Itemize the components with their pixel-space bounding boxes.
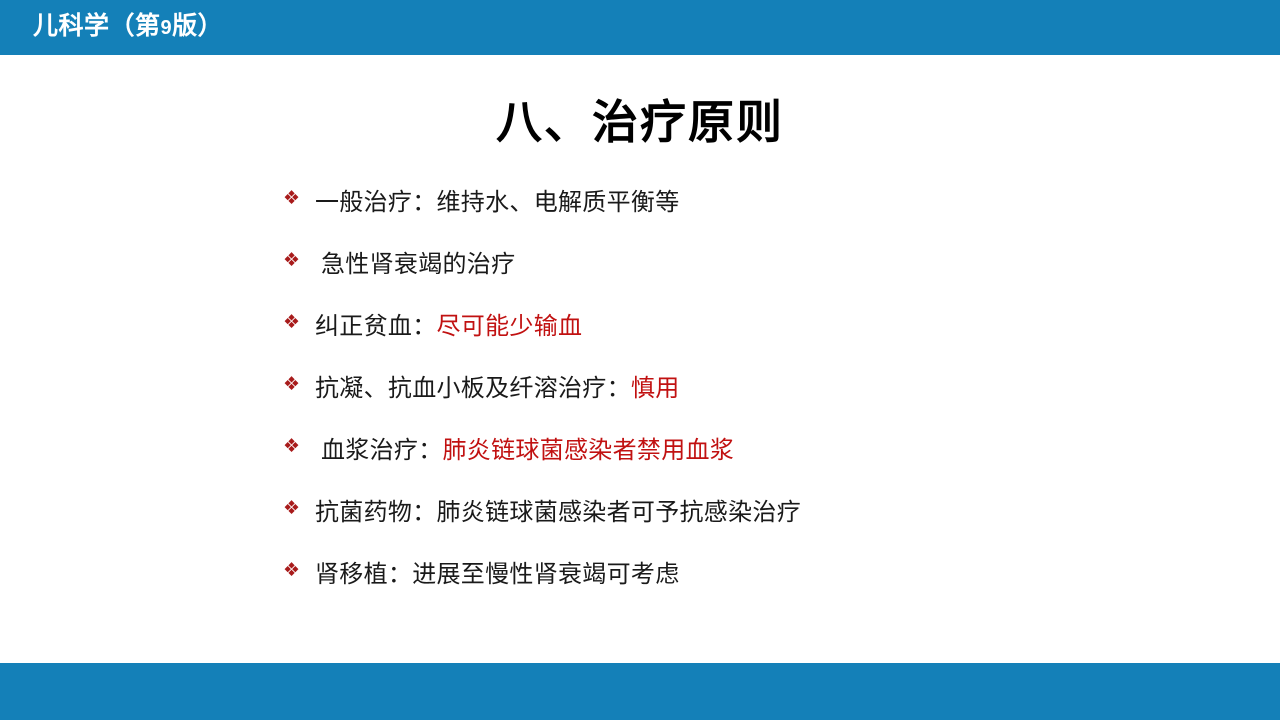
list-item-text-highlight: 尽可能少输血	[437, 313, 583, 340]
list-item-text: 抗凝、抗血小板及纤溶治疗：慎用	[303, 368, 680, 403]
list-item: ❖ 纠正贫血：尽可能少输血	[283, 292, 1233, 354]
bullet-list: ❖ 一般治疗：维持水、电解质平衡等 ❖ 急性肾衰竭的治疗 ❖ 纠正贫血：尽可能少…	[283, 168, 1233, 602]
footer-bar	[0, 663, 1280, 720]
diamond-bullet-icon: ❖	[283, 499, 303, 518]
diamond-bullet-icon: ❖	[283, 375, 303, 394]
diamond-bullet-icon: ❖	[283, 251, 303, 270]
header-title-tail: 版）	[172, 12, 223, 40]
page-title: 八、治疗原则	[0, 86, 1280, 152]
header-edition-number: 9	[161, 17, 173, 39]
header-title-main: 儿科学（第	[33, 12, 161, 40]
slide: 儿科学（第9版） 八、治疗原则 ❖ 一般治疗：维持水、电解质平衡等 ❖ 急性肾衰…	[0, 0, 1280, 720]
list-item: ❖ 肾移植：进展至慢性肾衰竭可考虑	[283, 540, 1233, 602]
list-item-text: 血浆治疗：肺炎链球菌感染者禁用血浆	[303, 430, 734, 465]
diamond-bullet-icon: ❖	[283, 437, 303, 456]
list-item: ❖ 急性肾衰竭的治疗	[283, 230, 1233, 292]
header-bar: 儿科学（第9版）	[0, 0, 1280, 55]
list-item-text-black: 一般治疗：维持水、电解质平衡等	[315, 189, 680, 216]
diamond-bullet-icon: ❖	[283, 189, 303, 208]
list-item: ❖ 血浆治疗：肺炎链球菌感染者禁用血浆	[283, 416, 1233, 478]
list-item-text: 抗菌药物：肺炎链球菌感染者可予抗感染治疗	[303, 492, 801, 527]
list-item-text-highlight: 肺炎链球菌感染者禁用血浆	[443, 437, 735, 464]
list-item-text: 肾移植：进展至慢性肾衰竭可考虑	[303, 554, 680, 589]
list-item-text-black: 抗菌药物：肺炎链球菌感染者可予抗感染治疗	[315, 499, 801, 526]
list-item: ❖ 抗菌药物：肺炎链球菌感染者可予抗感染治疗	[283, 478, 1233, 540]
list-item: ❖ 抗凝、抗血小板及纤溶治疗：慎用	[283, 354, 1233, 416]
list-item-text-black: 血浆治疗：	[321, 437, 443, 464]
list-item-text-black: 急性肾衰竭的治疗	[321, 251, 515, 278]
list-item-text-black: 纠正贫血：	[315, 313, 437, 340]
diamond-bullet-icon: ❖	[283, 313, 303, 332]
list-item-text-highlight: 慎用	[631, 375, 680, 402]
header-title: 儿科学（第9版）	[33, 0, 223, 55]
list-item-text-black: 肾移植：进展至慢性肾衰竭可考虑	[315, 561, 680, 588]
list-item-text-black: 抗凝、抗血小板及纤溶治疗：	[315, 375, 631, 402]
list-item-text: 急性肾衰竭的治疗	[303, 244, 515, 279]
list-item: ❖ 一般治疗：维持水、电解质平衡等	[283, 168, 1233, 230]
list-item-text: 纠正贫血：尽可能少输血	[303, 306, 582, 341]
list-item-text: 一般治疗：维持水、电解质平衡等	[303, 182, 680, 217]
diamond-bullet-icon: ❖	[283, 561, 303, 580]
